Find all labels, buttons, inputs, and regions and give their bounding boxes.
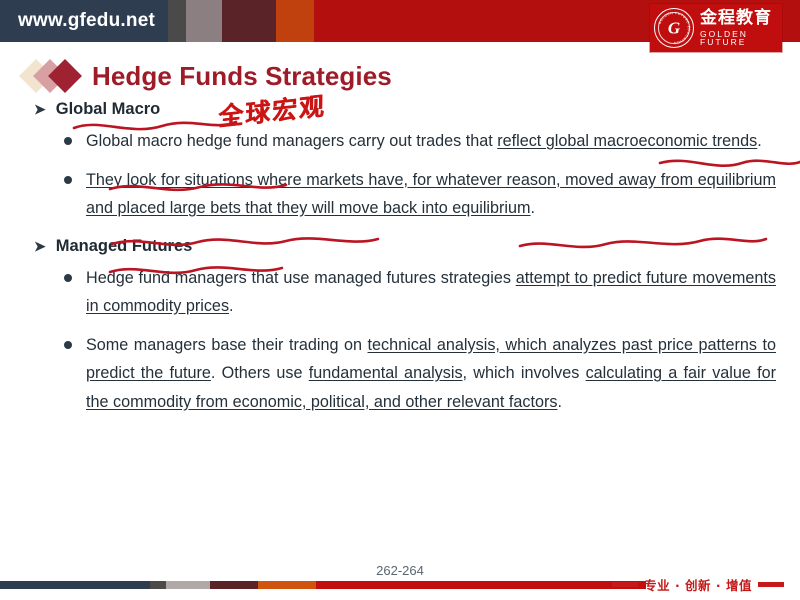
logo-text-group: 金程教育 GOLDEN FUTURE <box>700 10 782 47</box>
brand-logo: GOLDEN FUTURE EDUCATION G 金程教育 GOLDEN FU… <box>650 4 782 52</box>
plain-phrase: . <box>557 393 562 411</box>
underlined-phrase: reflect global macroeconomic trends <box>497 132 757 150</box>
footer-slogan-label: 专业 · 创新 · 增值 <box>644 575 752 594</box>
header-band-2 <box>186 0 222 42</box>
footer-slogan-group: 专业 · 创新 · 增值 <box>612 575 784 594</box>
plain-phrase: . <box>531 199 536 217</box>
bullet-text: Some managers base their trading on tech… <box>86 336 776 411</box>
bullet-dot-icon <box>64 176 72 184</box>
section-heading-label: Global Macro <box>56 100 161 119</box>
bullet-dot-icon <box>64 341 72 349</box>
header-band-3 <box>222 0 276 42</box>
header-band-1 <box>168 0 186 42</box>
footer-band-2 <box>166 581 210 589</box>
bullet-text: Global macro hedge fund managers carry o… <box>86 132 762 150</box>
page-title: Hedge Funds Strategies <box>92 61 392 92</box>
footer-band-1 <box>150 581 166 589</box>
plain-phrase: Hedge fund managers that use managed fut… <box>86 269 516 287</box>
section-heading-managed-futures: ➤ Managed Futures <box>34 237 800 256</box>
footer-band-4 <box>258 581 316 589</box>
seal-icon: GOLDEN FUTURE EDUCATION G <box>654 8 694 48</box>
arrow-bullet-icon: ➤ <box>34 239 46 253</box>
plain-phrase: . Others use <box>211 364 309 382</box>
seal-monogram: G <box>668 20 680 37</box>
section-heading-label: Managed Futures <box>56 237 193 256</box>
underlined-phrase: They look for situations where markets h… <box>86 171 776 218</box>
site-url-label: www.gfedu.net <box>18 10 155 32</box>
footer-band-5 <box>316 581 646 589</box>
section-heading-global-macro: ➤ Global Macro <box>34 100 800 119</box>
footer-band-0 <box>0 581 150 589</box>
underlined-phrase: fundamental analysis <box>309 364 463 382</box>
header-band-4 <box>276 0 314 42</box>
slide-title-row: Hedge Funds Strategies <box>24 56 392 96</box>
footer-band-3 <box>210 581 258 589</box>
plain-phrase: . <box>229 297 234 315</box>
slogan-bar-right-icon <box>758 582 784 587</box>
bullet-dot-icon <box>64 137 72 145</box>
plain-phrase: Some managers base their trading on <box>86 336 368 354</box>
bullet-item: Hedge fund managers that use managed fut… <box>60 264 776 321</box>
logo-english-name: GOLDEN FUTURE <box>700 30 782 47</box>
header-band-url: www.gfedu.net <box>0 0 168 42</box>
plain-phrase: . <box>757 132 762 150</box>
logo-chinese-name: 金程教育 <box>700 10 782 27</box>
bullet-text: They look for situations where markets h… <box>86 171 776 218</box>
slide-root: www.gfedu.net GOLDEN FUTURE EDUCATION G … <box>0 0 800 600</box>
slide-content: ➤ Global Macro Global macro hedge fund m… <box>0 100 800 417</box>
arrow-bullet-icon: ➤ <box>34 102 46 116</box>
diamond-decoration-icon <box>24 59 90 93</box>
plain-phrase: Global macro hedge fund managers carry o… <box>86 132 497 150</box>
bullet-item: They look for situations where markets h… <box>60 166 776 223</box>
bullet-item: Global macro hedge fund managers carry o… <box>60 127 776 156</box>
bullet-text: Hedge fund managers that use managed fut… <box>86 269 776 316</box>
plain-phrase: , which involves <box>463 364 586 382</box>
bullet-dot-icon <box>64 274 72 282</box>
slogan-bar-left-icon <box>612 582 638 587</box>
bullet-item: Some managers base their trading on tech… <box>60 331 776 417</box>
